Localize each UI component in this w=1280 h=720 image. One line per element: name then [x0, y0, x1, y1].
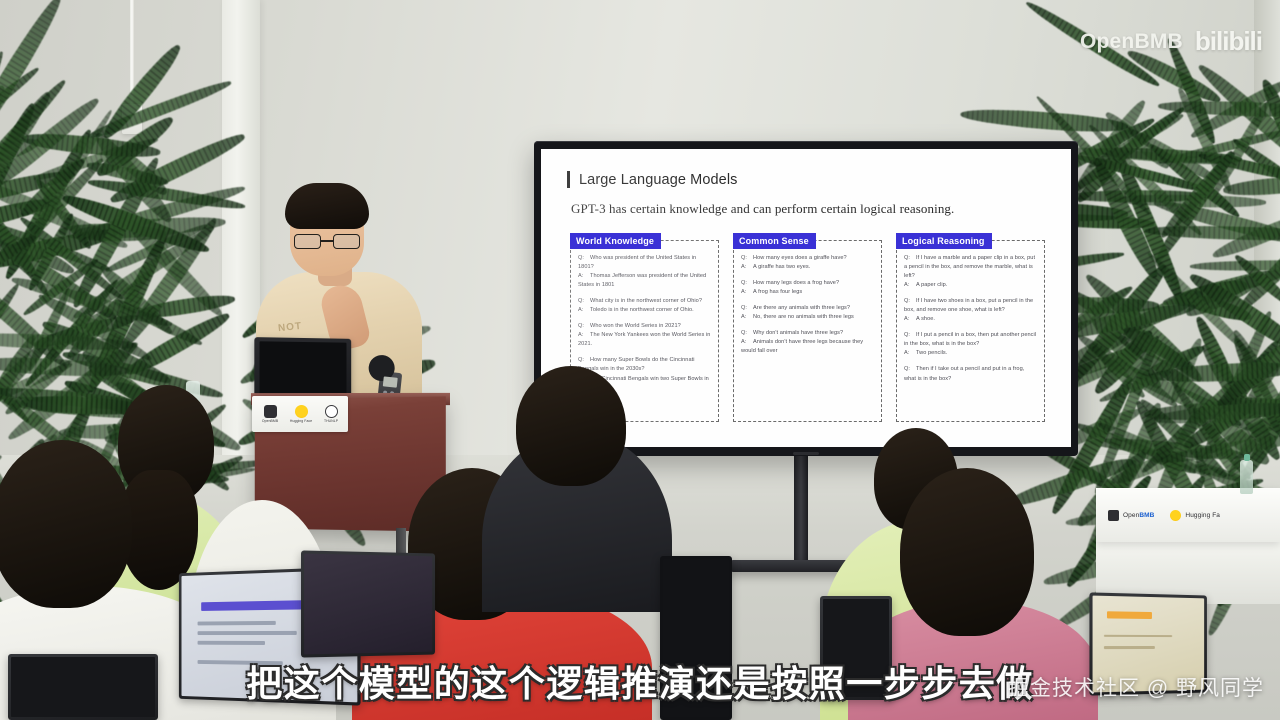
qa-question: Q:If I have a marble and a paper clip in…	[904, 254, 1037, 281]
qa-answer: A:A frog has four legs	[741, 288, 874, 297]
watermark: 掘金技术社区 @ 野风同学	[1008, 672, 1264, 702]
thunlp-logo-icon	[325, 405, 338, 418]
mic-display	[383, 376, 398, 387]
banner-brand-openbmb: OpenBMB	[1108, 510, 1154, 521]
column-header: Common Sense	[733, 233, 816, 249]
screenshot-frame: Large Language Models GPT-3 has certain …	[0, 0, 1280, 720]
speaker-glasses-icon	[294, 234, 360, 249]
pendant-lamp	[122, 104, 142, 134]
qa-question-label: Q:	[741, 304, 753, 313]
screen-text-line	[198, 641, 265, 645]
hugging-face-logo-icon	[295, 405, 308, 418]
qa-pair: Q:Are there any animals with three legs?…	[741, 304, 874, 322]
banner-brand-huggingface: Hugging Fa	[1170, 510, 1220, 521]
qa-question: Q:If I have two shoes in a box, put a pe…	[904, 297, 1037, 315]
slide-title: Large Language Models	[579, 172, 738, 188]
screen-text-line	[1104, 646, 1154, 649]
side-table-banner: OpenBMB Hugging Fa	[1096, 488, 1280, 542]
glasses-bridge	[321, 240, 333, 242]
qa-answer: A:A shoe.	[904, 315, 1037, 324]
qa-question-label: Q:	[578, 322, 590, 331]
openbmb-logo-icon	[1108, 510, 1119, 521]
audience-head	[516, 366, 626, 486]
qa-pair: Q:How many legs does a frog have?A:A fro…	[741, 279, 874, 297]
screen-text-line	[1104, 634, 1172, 637]
qa-answer-label: A:	[741, 313, 753, 322]
qa-question-label: Q:	[578, 356, 590, 365]
podium-logo-huggingface: Hugging Face	[290, 405, 312, 423]
qa-pair: Q:If I put a pencil in a box, then put a…	[904, 331, 1037, 358]
glasses-lens-left	[294, 234, 321, 249]
audience-head	[900, 468, 1034, 636]
qa-answer: A:A paper clip.	[904, 281, 1037, 290]
column-qa-box: Q:If I have a marble and a paper clip in…	[896, 240, 1045, 422]
water-bottle-right	[1240, 460, 1253, 494]
screen-text-line	[198, 621, 276, 625]
qa-answer: A:Two pencils.	[904, 349, 1037, 358]
screen-text-line	[198, 631, 298, 635]
podium-logo-thunlp: THUNLP	[324, 405, 338, 423]
qa-answer: A:Thomas Jefferson was president of the …	[578, 272, 711, 290]
bilibili-logo-icon: bilibili	[1195, 26, 1262, 57]
qa-answer: A:No, there are no animals with three le…	[741, 313, 874, 322]
qa-pair: Q:What city is in the northwest corner o…	[578, 297, 711, 315]
audience-laptop-center-left[interactable]	[301, 550, 435, 657]
qa-answer-label: A:	[578, 331, 590, 340]
qa-question: Q:Why don't animals have three legs?	[741, 329, 874, 338]
qa-answer-label: A:	[904, 281, 916, 290]
podium-logo-label: Hugging Face	[290, 419, 312, 423]
column-header: Logical Reasoning	[896, 233, 992, 249]
qa-answer: A:Toledo is in the northwest corner of O…	[578, 306, 711, 315]
qa-question: Q:Who won the World Series in 2021?	[578, 322, 711, 331]
podium-sponsor-sign: OpenBMB Hugging Face THUNLP	[252, 396, 348, 432]
qa-answer: A:Animals don't have three legs because …	[741, 338, 874, 356]
qa-answer-label: A:	[741, 263, 753, 272]
title-accent-bar	[567, 171, 570, 188]
column-header: World Knowledge	[570, 233, 661, 249]
qa-question-label: Q:	[578, 254, 590, 263]
qa-pair: Q:Then if I take out a pencil and put in…	[904, 365, 1037, 383]
podium-logo-openbmb: OpenBMB	[262, 405, 278, 423]
screen-highlight-bar	[1107, 611, 1153, 618]
qa-question-label: Q:	[904, 365, 916, 374]
tv-stand-neck	[794, 456, 808, 568]
qa-question-label: Q:	[904, 297, 916, 306]
qa-answer-label: A:	[904, 315, 916, 324]
qa-question-label: Q:	[578, 297, 590, 306]
qa-question: Q:Are there any animals with three legs?	[741, 304, 874, 313]
slide-title-row: Large Language Models	[567, 171, 1045, 188]
qa-question: Q:If I put a pencil in a box, then put a…	[904, 331, 1037, 349]
hugging-face-logo-icon	[1170, 510, 1181, 521]
openbmb-wordmark: OpenBMB	[1080, 30, 1183, 54]
qa-pair: Q:Who won the World Series in 2021?A:The…	[578, 322, 711, 349]
qa-question: Q:What city is in the northwest corner o…	[578, 297, 711, 306]
qa-question: Q:Who was president of the United States…	[578, 254, 711, 272]
qa-pair: Q:How many eyes does a giraffe have?A:A …	[741, 254, 874, 272]
qa-pair: Q:If I have a marble and a paper clip in…	[904, 254, 1037, 290]
qa-question-label: Q:	[741, 254, 753, 263]
qa-question-label: Q:	[741, 329, 753, 338]
qa-question: Q:How many legs does a frog have?	[741, 279, 874, 288]
qa-answer: A:A giraffe has two eyes.	[741, 263, 874, 272]
qa-answer-label: A:	[904, 349, 916, 358]
qa-pair: Q:Why don't animals have three legs?A:An…	[741, 329, 874, 356]
podium-logo-label: OpenBMB	[262, 419, 278, 423]
openbmb-logo-icon	[264, 405, 277, 418]
qa-answer-label: A:	[741, 288, 753, 297]
qa-question-label: Q:	[904, 331, 916, 340]
qa-pair: Q:If I have two shoes in a box, put a pe…	[904, 297, 1037, 324]
audience-head	[0, 440, 132, 608]
screen-highlight-bar	[201, 600, 308, 611]
glasses-lens-right	[333, 234, 360, 249]
qa-question: Q:How many Super Bowls do the Cincinnati…	[578, 356, 711, 374]
channel-branding: OpenBMB bilibili	[1080, 26, 1262, 57]
qa-answer-label: A:	[578, 306, 590, 315]
podium-logo-label: THUNLP	[324, 419, 338, 423]
pendant-lamp-cord	[130, 0, 134, 106]
column-qa-box: Q:How many eyes does a giraffe have?A:A …	[733, 240, 882, 422]
qa-question-label: Q:	[904, 254, 916, 263]
tv-logo-chin	[793, 452, 819, 455]
laptop-screen	[304, 554, 432, 655]
banner-brand-label: Hugging Fa	[1185, 512, 1220, 519]
qa-question: Q:Then if I take out a pencil and put in…	[904, 365, 1037, 383]
slide-columns: World KnowledgeQ:Who was president of th…	[567, 231, 1045, 422]
qa-question: Q:How many eyes does a giraffe have?	[741, 254, 874, 263]
slide-column: Common SenseQ:How many eyes does a giraf…	[733, 231, 882, 422]
wall-right-edge	[1254, 0, 1280, 470]
slide-column: Logical ReasoningQ:If I have a marble an…	[896, 231, 1045, 422]
qa-pair: Q:Who was president of the United States…	[578, 254, 711, 290]
slide-subtitle: GPT-3 has certain knowledge and can perf…	[571, 201, 1045, 217]
qa-answer-label: A:	[741, 338, 753, 347]
banner-brand-label: OpenBMB	[1123, 512, 1154, 519]
qa-question-label: Q:	[741, 279, 753, 288]
qa-answer: A:The New York Yankees won the World Ser…	[578, 331, 711, 349]
speaker-hair	[285, 183, 369, 229]
qa-answer-label: A:	[578, 272, 590, 281]
